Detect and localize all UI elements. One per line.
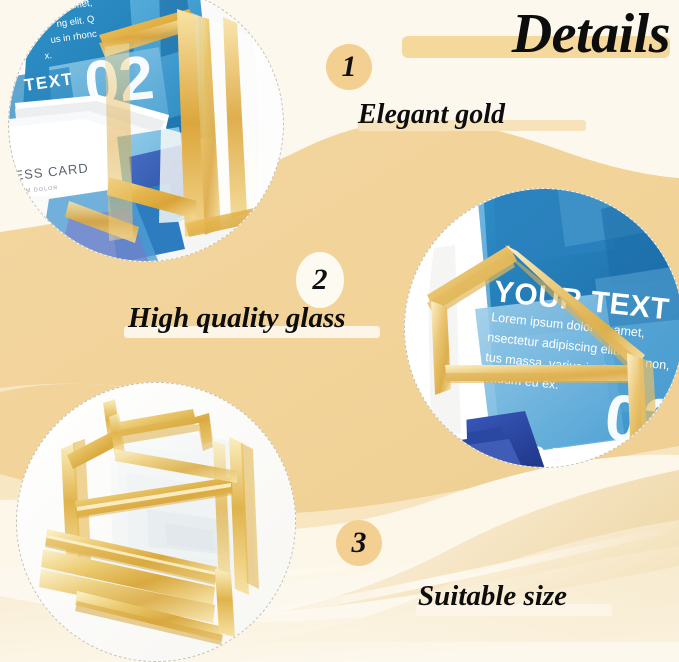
photo-top-left: amet, ng elit. Q us in rhonc non, x. 02 … [8,0,284,262]
page-title-wrapper: Details [388,4,674,68]
photo-right: YOUR TEXT Lorem ipsum dolor sit amet, ns… [404,188,679,468]
photo-top-left-art: amet, ng elit. Q us in rhonc non, x. 02 … [9,0,283,261]
feature-label-1: Elegant gold [358,98,590,132]
feature-badge-3: 3 [336,520,382,566]
feature-label-3-wrapper: Suitable size [418,578,618,620]
feature-label-1-wrapper: Elegant gold [358,98,590,138]
feature-label-2-wrapper: High quality glass [128,300,388,342]
page-title: Details [388,4,674,64]
feature-badge-1: 1 [326,44,372,90]
photo-bottom-left [16,382,296,662]
feature-label-2: High quality glass [128,300,388,336]
photo-bottom-left-art [17,383,295,661]
feature-label-3: Suitable size [418,578,618,614]
infographic-canvas: amet, ng elit. Q us in rhonc non, x. 02 … [0,0,679,662]
photo-right-art: YOUR TEXT Lorem ipsum dolor sit amet, ns… [405,189,679,467]
svg-text:x.: x. [44,50,53,62]
